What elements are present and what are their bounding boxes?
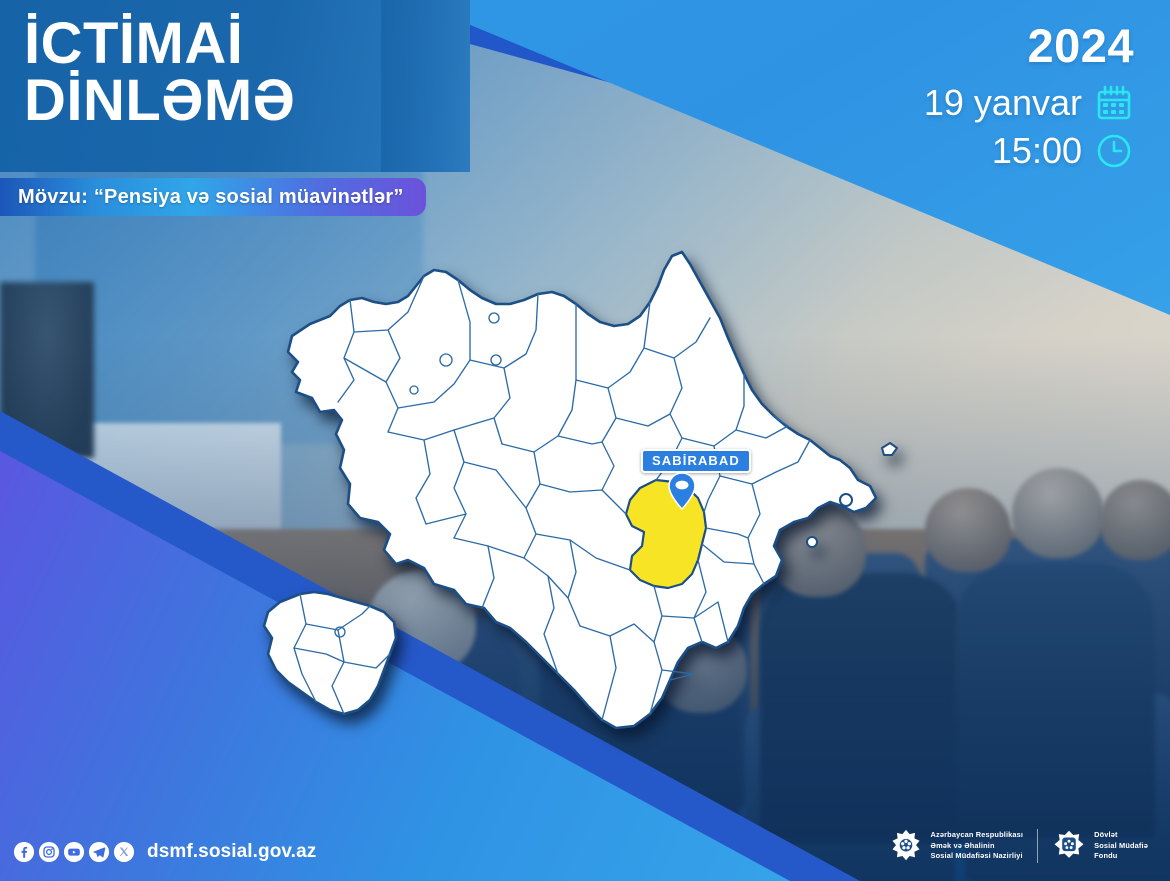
- azerbaijan-map: [258, 212, 924, 732]
- site-url[interactable]: dsmf.sosial.gov.az: [147, 841, 316, 863]
- ministry-logo: Azərbaycan Respublikası Əmək və Əhalinin…: [889, 829, 1024, 863]
- title-line-1: İCTİMAİ: [24, 16, 444, 73]
- fund-logo: Dövlət Sosial Müdafiə Fondu: [1052, 829, 1148, 863]
- footer-logos: Azərbaycan Respublikası Əmək və Əhalinin…: [889, 829, 1148, 863]
- map-pin-icon: [668, 472, 696, 510]
- clock-icon: [1094, 131, 1134, 171]
- title-line-2: DİNLƏMƏ: [24, 73, 444, 130]
- fund-emblem-icon: [1052, 829, 1086, 863]
- page-title: İCTİMAİ DİNLƏMƏ: [24, 16, 444, 130]
- map-exclave-nakhchivan: [264, 592, 396, 714]
- ministry-logo-text: Azərbaycan Respublikası Əmək və Əhalinin…: [931, 830, 1024, 862]
- fund-logo-text: Dövlət Sosial Müdafiə Fondu: [1094, 830, 1148, 862]
- event-date-row: 19 yanvar: [924, 83, 1134, 123]
- map-region-label: SABİRABAD: [641, 449, 751, 473]
- instagram-icon[interactable]: [39, 842, 59, 862]
- poster-canvas: İCTİMAİ DİNLƏMƏ Mövzu: “Pensiya və sosia…: [0, 0, 1170, 881]
- logo-divider: [1037, 829, 1038, 863]
- event-date: 19 yanvar: [924, 85, 1082, 121]
- social-links[interactable]: dsmf.sosial.gov.az: [14, 841, 316, 863]
- youtube-icon[interactable]: [64, 842, 84, 862]
- event-time: 15:00: [992, 133, 1082, 169]
- telegram-icon[interactable]: [89, 842, 109, 862]
- x-twitter-icon[interactable]: [114, 842, 134, 862]
- topic-badge: Mövzu: “Pensiya və sosial müavinətlər”: [0, 178, 426, 216]
- event-year: 2024: [924, 22, 1134, 69]
- ministry-emblem-icon: [889, 829, 923, 863]
- calendar-icon: [1094, 83, 1134, 123]
- event-time-row: 15:00: [924, 131, 1134, 171]
- facebook-icon[interactable]: [14, 842, 34, 862]
- event-datetime: 2024 19 yanvar 15:00: [924, 22, 1134, 171]
